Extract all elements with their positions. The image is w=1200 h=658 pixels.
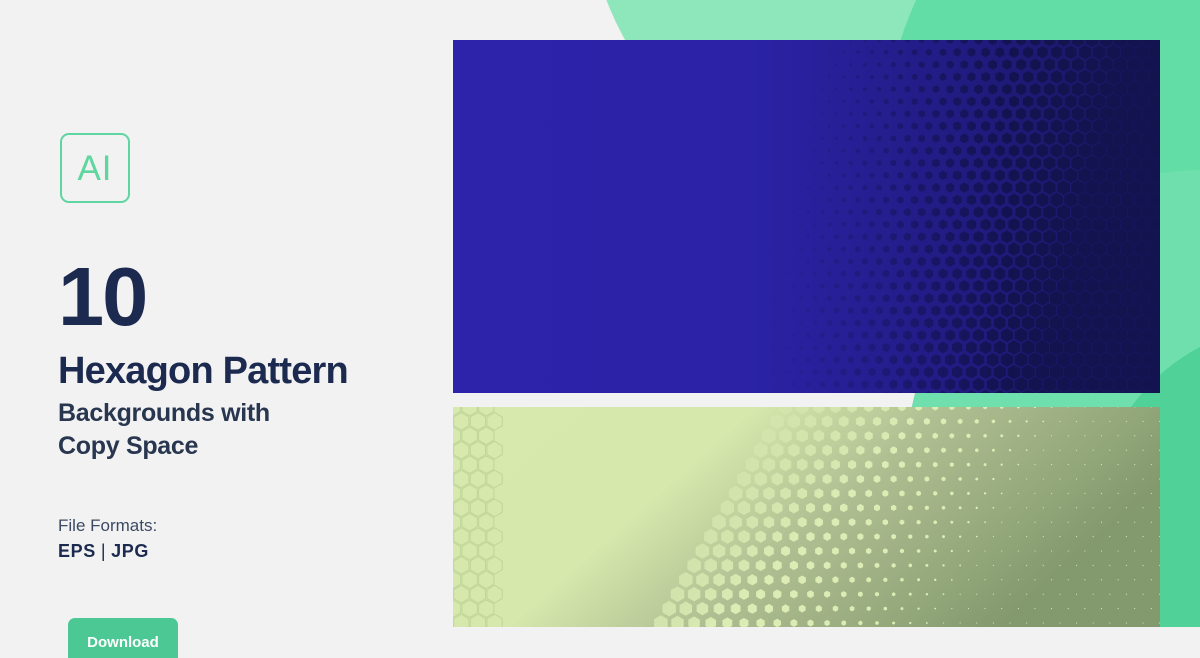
file-formats-value: EPS|JPG [58,541,149,562]
file-formats-label: File Formats: [58,516,157,536]
page-title: Hexagon Pattern [58,352,348,392]
file-format-jpg: JPG [111,541,149,561]
preview-card-green-hexagon[interactable] [453,407,1160,627]
file-format-eps: EPS [58,541,96,561]
file-format-separator: | [96,541,111,561]
green-hexagon-artwork [453,407,1160,627]
download-button[interactable]: Download [68,618,178,658]
blue-hexagon-artwork [453,40,1160,393]
ai-format-badge: AI [60,133,130,203]
ai-badge-label: AI [77,151,112,186]
page-subtitle: Backgrounds with Copy Space [58,397,418,463]
page-subtitle-line1: Backgrounds with [58,397,418,430]
preview-card-blue-hexagon[interactable] [453,40,1160,393]
info-panel: AI 10 Hexagon Pattern Backgrounds with C… [0,0,453,627]
page-subtitle-line2: Copy Space [58,430,418,463]
item-count: 10 [58,258,146,337]
